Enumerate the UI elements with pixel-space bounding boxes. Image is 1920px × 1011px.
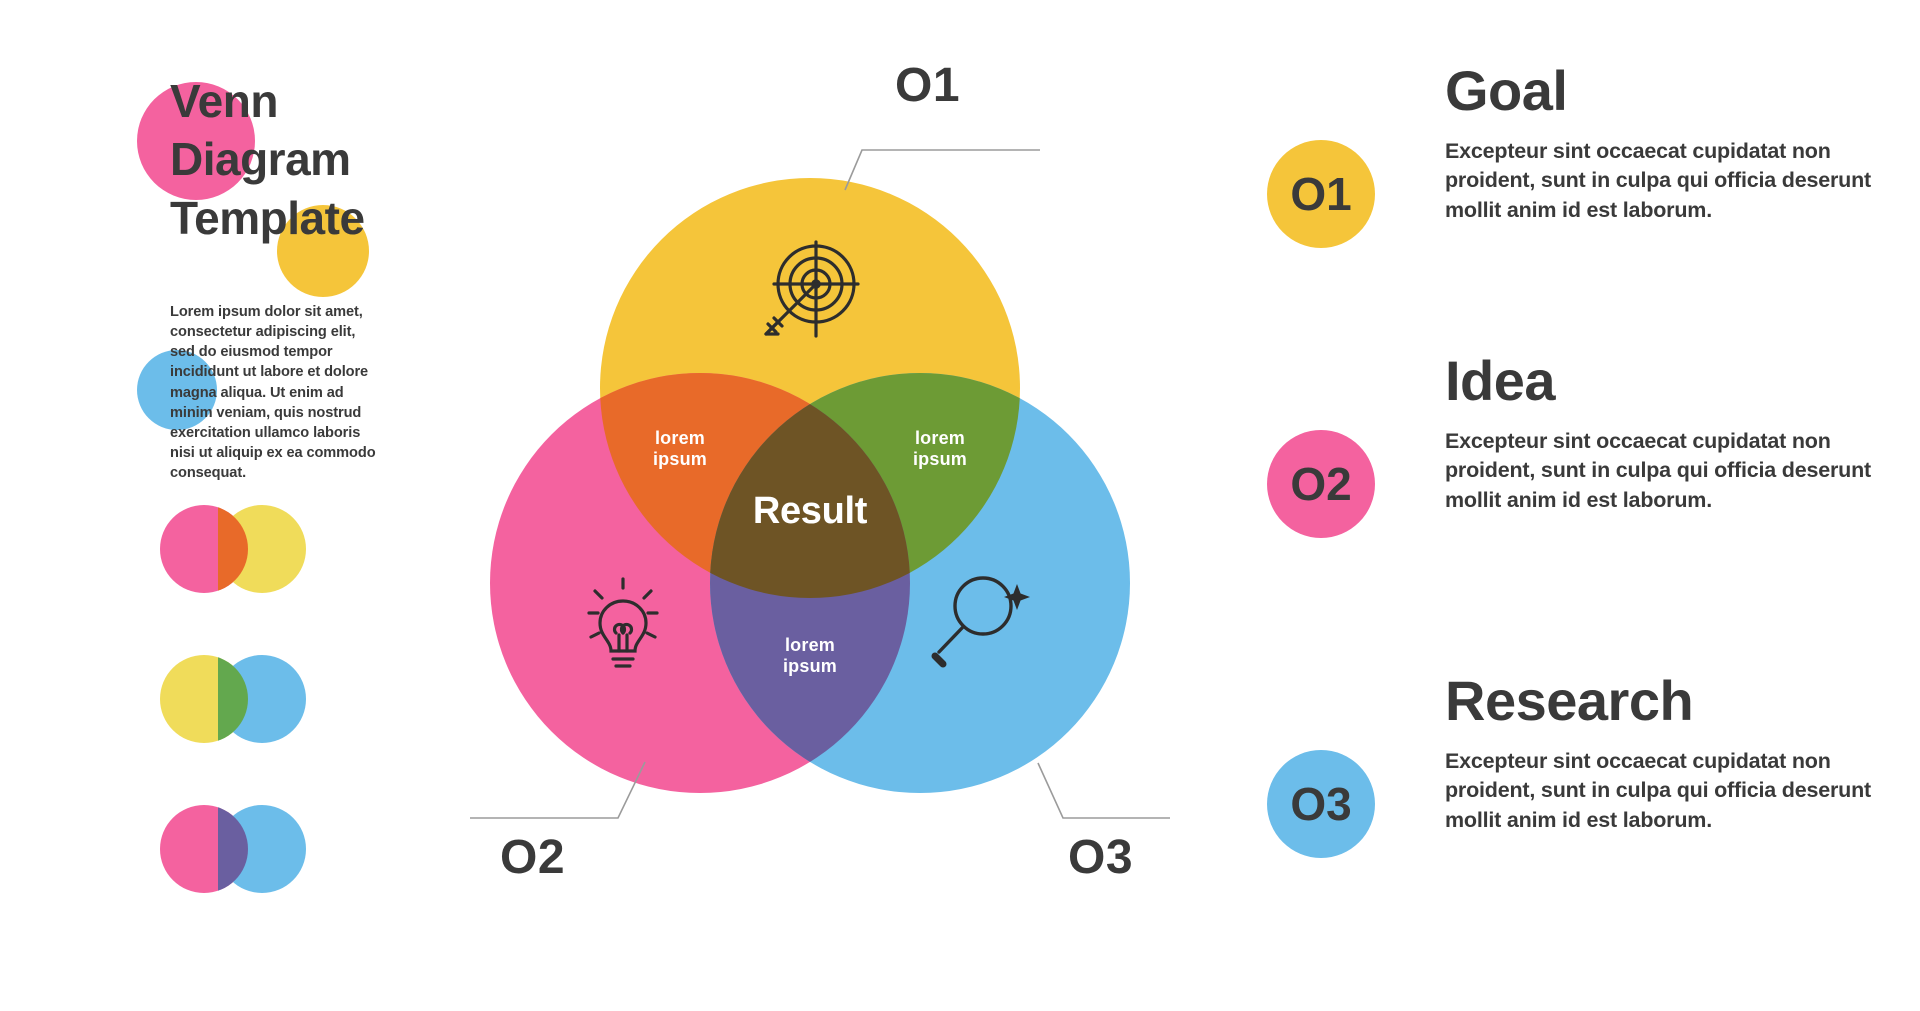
callout-number-01: O1	[895, 58, 960, 113]
callout-leader-lines	[0, 0, 1920, 1011]
callout-number-02: O2	[500, 830, 565, 885]
callout-number-03: O3	[1068, 830, 1133, 885]
infographic-canvas: Venn Diagram Template Lorem ipsum dolor …	[0, 0, 1920, 1011]
